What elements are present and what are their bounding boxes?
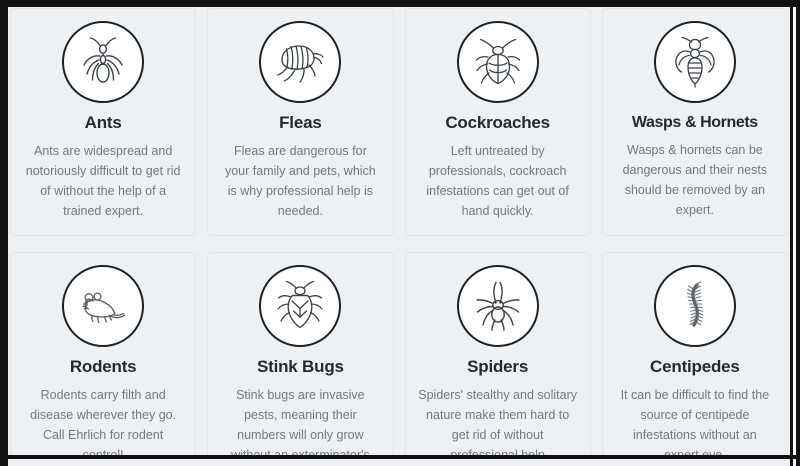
pest-card-title: Fleas: [279, 114, 321, 133]
pest-card-title: Wasps & Hornets: [632, 114, 758, 132]
pest-card-centipedes[interactable]: Centipedes It can be difficult to find t…: [602, 252, 788, 459]
pest-card-grid: Ants Ants are widespread and notoriously…: [8, 7, 790, 459]
pest-card-ants[interactable]: Ants Ants are widespread and notoriously…: [10, 8, 196, 236]
pest-card-spiders[interactable]: Spiders Spiders' stealthy and solitary n…: [405, 252, 591, 459]
page-overflow-strip: [0, 459, 800, 466]
pest-card-wasps-hornets[interactable]: Wasps & Hornets Wasps & hornets can be d…: [602, 8, 788, 236]
rodent-icon: [62, 265, 144, 347]
pest-card-description: Rodents carry filth and disease wherever…: [23, 385, 183, 459]
pest-card-title: Cockroaches: [445, 114, 550, 133]
pest-category-page: Ants Ants are widespread and notoriously…: [8, 7, 790, 459]
pest-card-description: It can be difficult to find the source o…: [615, 385, 775, 459]
wasp-icon: [654, 21, 736, 103]
spider-icon: [457, 265, 539, 347]
window-frame-right: [790, 0, 793, 466]
pest-card-title: Spiders: [467, 358, 528, 377]
window-frame-bottom: [0, 455, 800, 459]
pest-card-description: Left untreated by professionals, cockroa…: [418, 141, 578, 222]
window-frame-top: [0, 0, 800, 7]
pest-card-title: Rodents: [70, 358, 137, 377]
pest-card-stink-bugs[interactable]: Stink Bugs Stink bugs are invasive pests…: [207, 252, 393, 459]
pest-card-description: Wasps & hornets can be dangerous and the…: [615, 140, 775, 221]
flea-icon: [259, 21, 341, 103]
cockroach-icon: [457, 21, 539, 103]
pest-card-description: Spiders' stealthy and solitary nature ma…: [418, 385, 578, 459]
pest-card-rodents[interactable]: Rodents Rodents carry filth and disease …: [10, 252, 196, 459]
window-frame-left: [0, 0, 8, 466]
pest-card-description: Ants are widespread and notoriously diff…: [23, 141, 183, 222]
centipede-icon: [654, 265, 736, 347]
browser-viewport: Ants Ants are widespread and notoriously…: [0, 0, 800, 466]
pest-card-description: Fleas are dangerous for your family and …: [220, 141, 380, 222]
pest-card-cockroaches[interactable]: Cockroaches Left untreated by profession…: [405, 8, 591, 236]
pest-card-title: Ants: [85, 114, 122, 133]
pest-card-title: Stink Bugs: [257, 358, 344, 377]
window-frame-right-outer: [796, 0, 800, 466]
pest-card-description: Stink bugs are invasive pests, meaning t…: [220, 385, 380, 459]
pest-card-title: Centipedes: [650, 358, 740, 377]
pest-card-fleas[interactable]: Fleas Fleas are dangerous for your famil…: [207, 8, 393, 236]
ant-icon: [62, 21, 144, 103]
stink-bug-icon: [259, 265, 341, 347]
